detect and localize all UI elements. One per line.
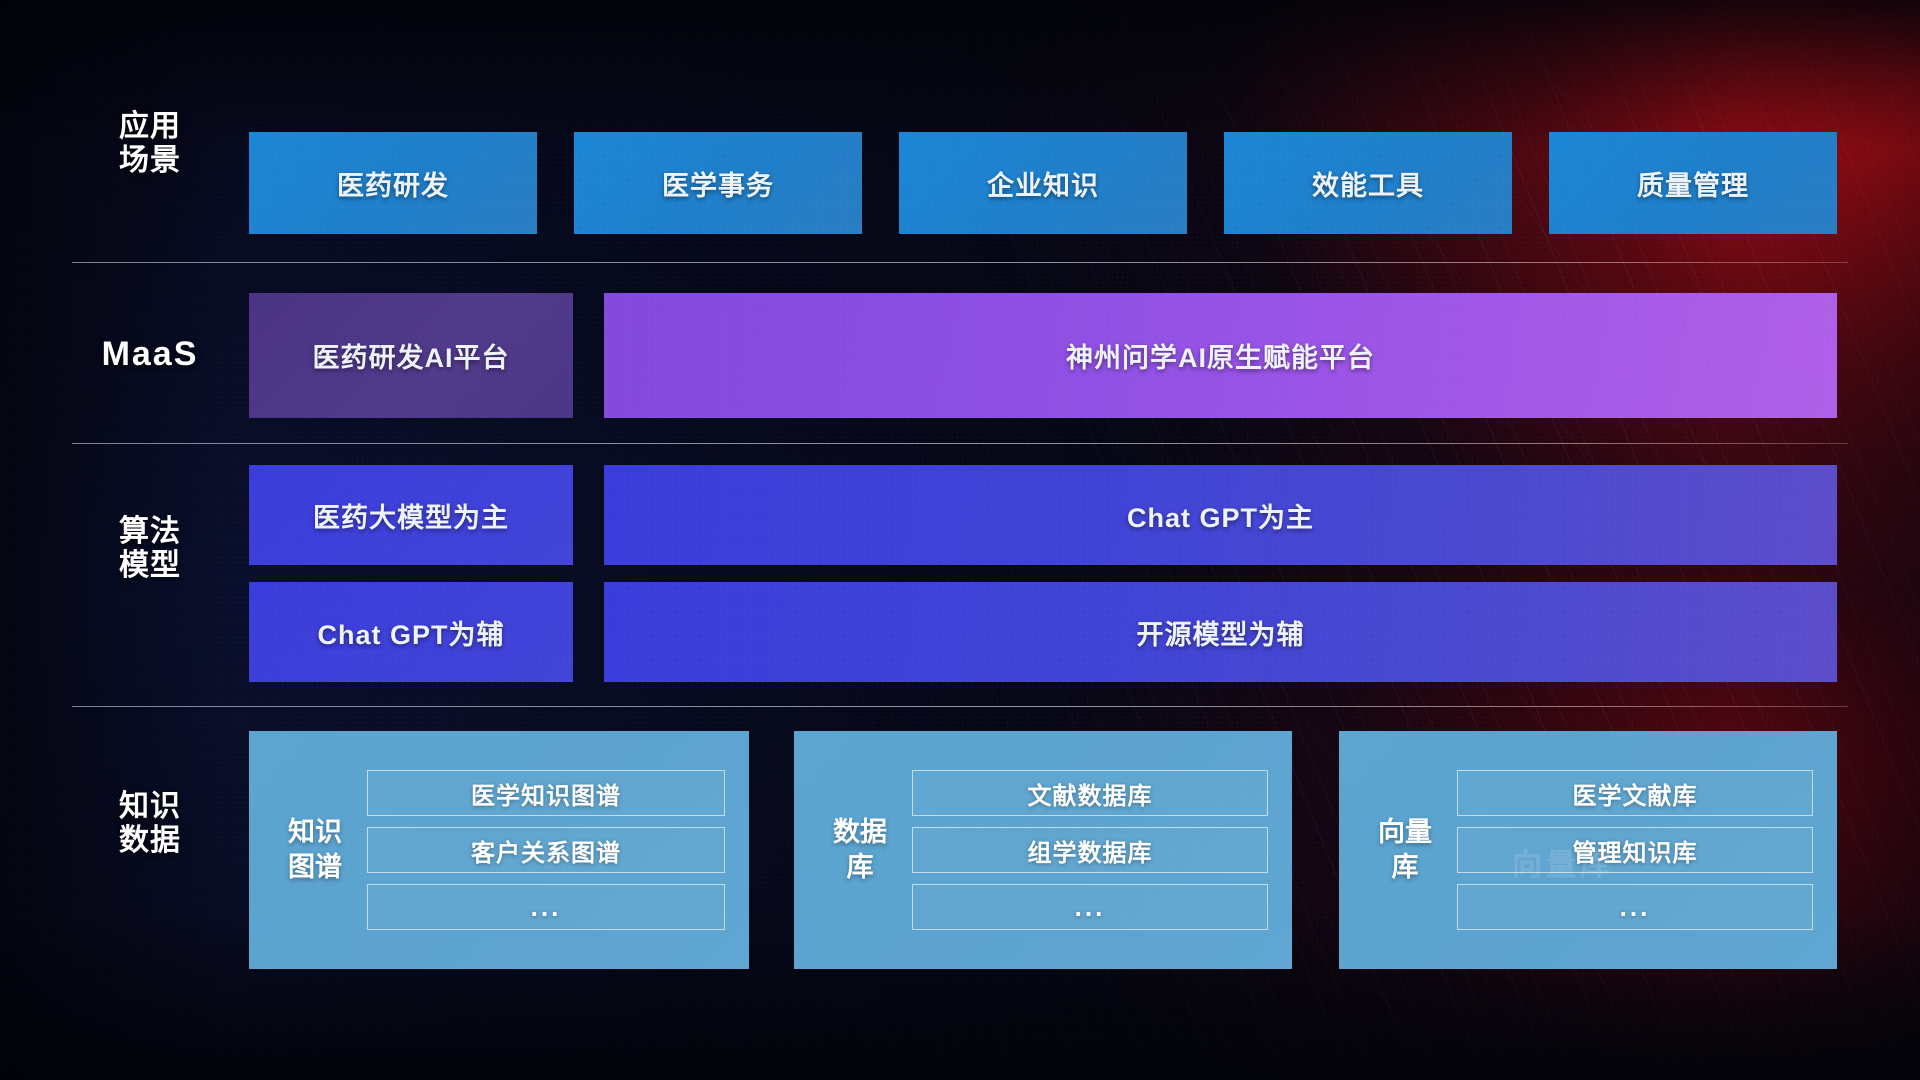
algorithm-block-row1-left[interactable]: 医药大模型为主 <box>249 465 573 565</box>
app-block-1[interactable]: 医药研发 <box>249 132 537 234</box>
knowledge-item-vector-3[interactable]: ... <box>1457 884 1813 930</box>
row-label-application: 应用 场景 <box>75 110 225 177</box>
knowledge-item-database-3[interactable]: ... <box>912 884 1268 930</box>
row-label-maas: MaaS <box>75 335 225 373</box>
knowledge-item-database-2[interactable]: 组学数据库 <box>912 827 1268 873</box>
app-block-1-label: 医药研发 <box>337 164 449 203</box>
algorithm-block-row2-right-label: 开源模型为辅 <box>1137 613 1305 652</box>
algorithm-block-row1-left-label: 医药大模型为主 <box>313 496 509 535</box>
architecture-diagram: 应用 场景 医药研发 医学事务 企业知识 效能工具 质量管理 MaaS 医药研发… <box>0 0 1920 1080</box>
knowledge-item-vector-1[interactable]: 医学文献库 <box>1457 770 1813 816</box>
app-block-3[interactable]: 企业知识 <box>899 132 1187 234</box>
algorithm-block-row1-right-label: Chat GPT为主 <box>1127 496 1314 535</box>
knowledge-item-vector-2[interactable]: 管理知识库 <box>1457 827 1813 873</box>
knowledge-panel-database[interactable]: 数据库 文献数据库 组学数据库 ... <box>794 731 1292 969</box>
knowledge-item-graph-1[interactable]: 医学知识图谱 <box>367 770 725 816</box>
app-block-5[interactable]: 质量管理 <box>1549 132 1837 234</box>
knowledge-panel-database-label: 数据库 <box>830 815 890 885</box>
app-block-4-label: 效能工具 <box>1312 164 1424 203</box>
row-label-maas-text: MaaS <box>75 335 225 373</box>
row-label-algorithm-line1: 算法 <box>75 515 225 549</box>
knowledge-panel-vector-items: 医学文献库 管理知识库 ... <box>1457 770 1837 930</box>
row-label-knowledge-line1: 知识 <box>75 790 225 824</box>
knowledge-item-graph-3[interactable]: ... <box>367 884 725 930</box>
row-label-application-line1: 应用 <box>75 110 225 144</box>
app-block-4[interactable]: 效能工具 <box>1224 132 1512 234</box>
divider-algorithm-knowledge <box>72 706 1848 707</box>
algorithm-block-row1-right[interactable]: Chat GPT为主 <box>604 465 1837 565</box>
knowledge-panel-graph[interactable]: 知识图谱 医学知识图谱 客户关系图谱 ... <box>249 731 749 969</box>
knowledge-panel-vector-label: 向量库 <box>1375 815 1435 885</box>
knowledge-item-graph-2[interactable]: 客户关系图谱 <box>367 827 725 873</box>
knowledge-panel-database-items: 文献数据库 组学数据库 ... <box>912 770 1292 930</box>
divider-application-maas <box>72 262 1848 263</box>
row-label-knowledge: 知识 数据 <box>75 790 225 857</box>
app-block-2[interactable]: 医学事务 <box>574 132 862 234</box>
maas-block-shenzhou-platform-label: 神州问学AI原生赋能平台 <box>1066 336 1375 375</box>
app-block-2-label: 医学事务 <box>662 164 774 203</box>
row-label-application-line2: 场景 <box>75 144 225 178</box>
maas-block-pharma-ai-platform-label: 医药研发AI平台 <box>313 336 510 375</box>
algorithm-block-row2-right[interactable]: 开源模型为辅 <box>604 582 1837 682</box>
knowledge-panel-graph-items: 医学知识图谱 客户关系图谱 ... <box>367 770 749 930</box>
divider-maas-algorithm <box>72 443 1848 444</box>
row-label-algorithm-line2: 模型 <box>75 549 225 583</box>
maas-block-pharma-ai-platform[interactable]: 医药研发AI平台 <box>249 293 573 418</box>
maas-block-shenzhou-platform[interactable]: 神州问学AI原生赋能平台 <box>604 293 1837 418</box>
row-label-knowledge-line2: 数据 <box>75 824 225 858</box>
app-block-5-label: 质量管理 <box>1637 164 1749 203</box>
algorithm-block-row2-left[interactable]: Chat GPT为辅 <box>249 582 573 682</box>
row-label-algorithm: 算法 模型 <box>75 515 225 582</box>
app-block-3-label: 企业知识 <box>987 164 1099 203</box>
knowledge-panel-vector[interactable]: 向量库 医学文献库 管理知识库 ... <box>1339 731 1837 969</box>
algorithm-block-row2-left-label: Chat GPT为辅 <box>317 613 504 652</box>
knowledge-panel-graph-label: 知识图谱 <box>285 815 345 885</box>
knowledge-item-database-1[interactable]: 文献数据库 <box>912 770 1268 816</box>
